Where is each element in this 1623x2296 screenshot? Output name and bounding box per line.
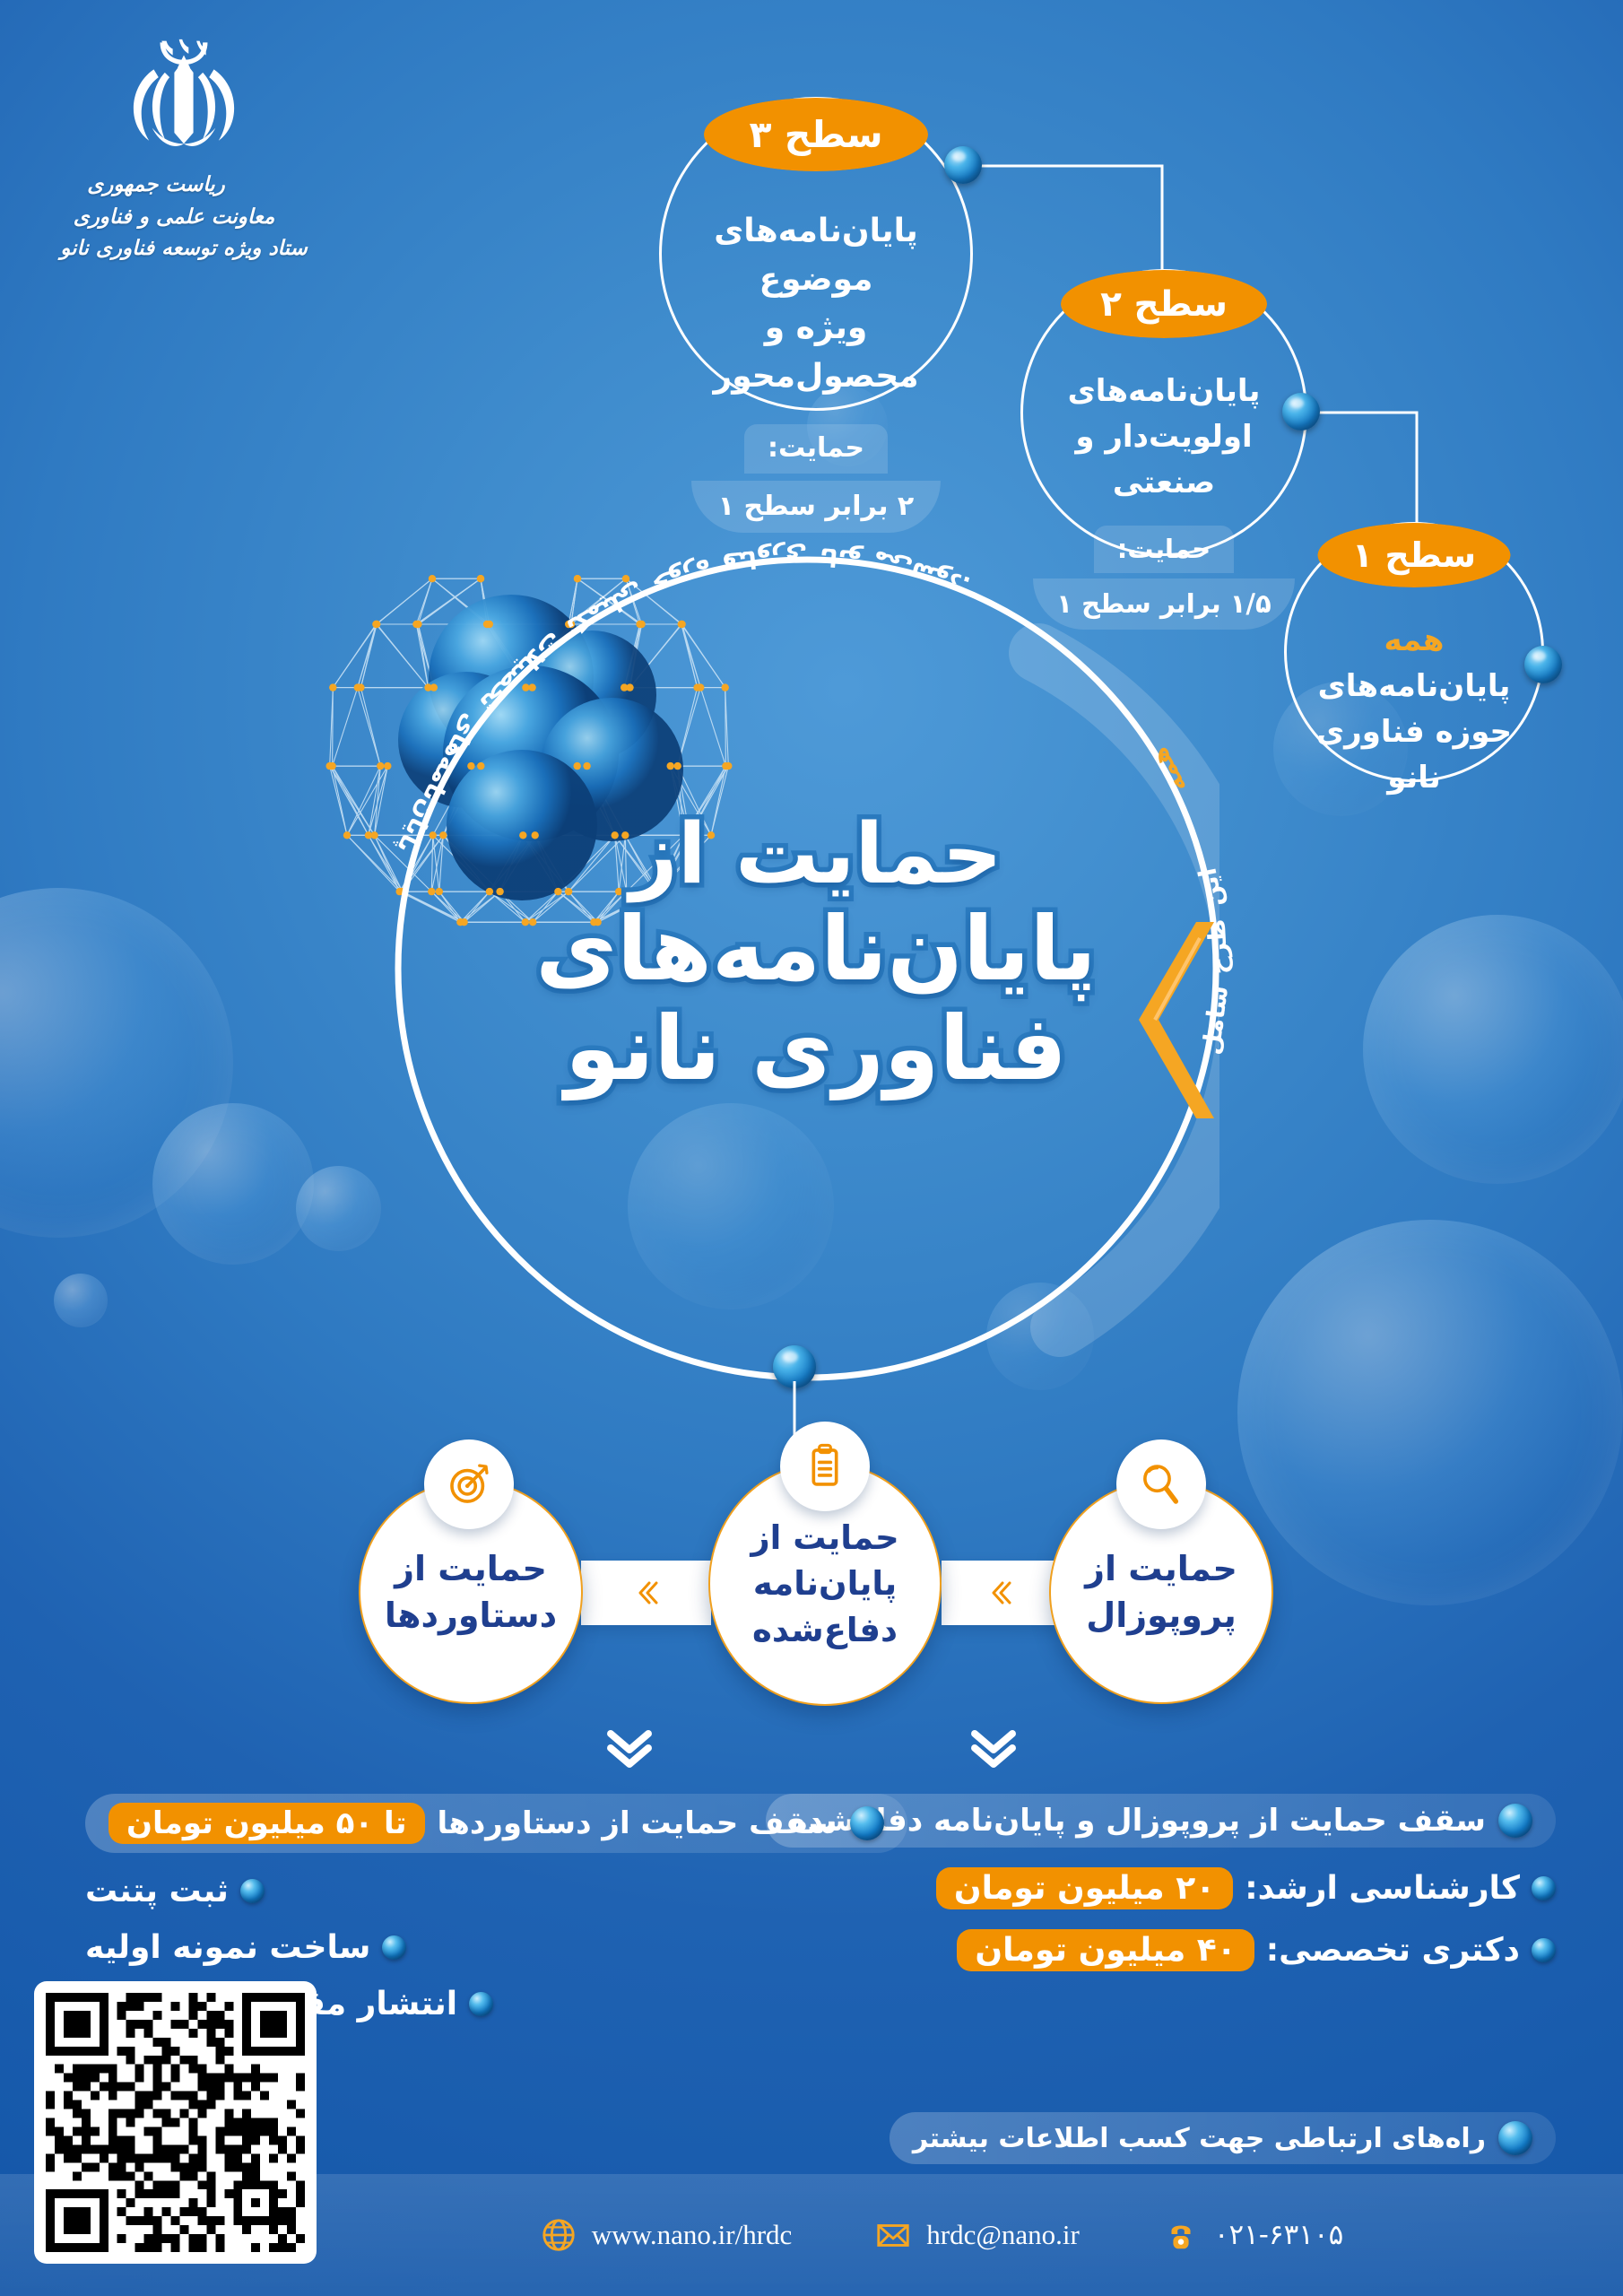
bead-icon: [1532, 1938, 1556, 1962]
level-1-connector-node: [1524, 646, 1562, 683]
level-3-badge: سطح ۳: [704, 98, 928, 171]
decorative-bubble: [296, 1166, 381, 1251]
orange-chevron-marker: [1132, 915, 1217, 1126]
support-achievements-heading: سقف حمایت از دستاوردها تا ۵۰ میلیون توما…: [85, 1794, 907, 1853]
bead-icon: [240, 1879, 265, 1903]
decorative-bubble: [152, 1103, 314, 1265]
level-3-support-label: حمایت:: [744, 424, 888, 474]
achievements-amount: تا ۵۰ میلیون تومان: [108, 1803, 425, 1844]
footer-website[interactable]: www.nano.ir/hrdc: [540, 2216, 793, 2254]
phd-label: دکتری تخصصی:: [1266, 1932, 1520, 1969]
support-row-masters: کارشناسی ارشد: ۲۰ میلیون تومان: [829, 1867, 1556, 1909]
level-2-title-line-2: اولویت‌دار و صنعتی: [1034, 414, 1294, 506]
process-2-line-1: حمایت از: [751, 1515, 898, 1561]
level-3-circle[interactable]: سطح ۳ پایان‌نامه‌های موضوع ویژه و محصول‌…: [659, 97, 973, 411]
level-3-title-line-1: پایان‌نامه‌های موضوع: [681, 207, 950, 304]
level-2-badge: سطح ۲: [1061, 270, 1267, 338]
level-1-badge: سطح ۱: [1318, 523, 1511, 587]
decorative-bubble: [1363, 915, 1623, 1184]
level-3-support-value: ۲ برابر سطح ۱: [691, 481, 941, 534]
bead-icon: [1498, 2121, 1532, 2155]
globe-icon: [540, 2216, 577, 2254]
process-2-line-2: پایان‌نامه: [751, 1561, 898, 1606]
process-1-line-2: پروپوزال: [1085, 1592, 1237, 1639]
masters-label: کارشناسی ارشد:: [1245, 1870, 1520, 1907]
level-2-circle[interactable]: سطح ۲ پایان‌نامه‌های اولویت‌دار و صنعتی …: [1020, 269, 1307, 556]
level-3-connector-node: [944, 146, 982, 184]
process-3-line-1: حمایت از: [385, 1545, 557, 1592]
target-icon-holder: [424, 1439, 514, 1529]
masters-amount: ۲۰ میلیون تومان: [936, 1867, 1233, 1909]
decorative-bubble: [0, 888, 233, 1238]
bead-icon: [382, 1935, 406, 1960]
bead-icon: [850, 1806, 884, 1840]
bead-icon: [1498, 1804, 1532, 1838]
bead-icon: [1532, 1876, 1556, 1900]
achievement-row-patent: ثبت پتنت: [85, 1873, 265, 1909]
telephone-icon: [1162, 2216, 1200, 2254]
level-1-highlight: همه: [1384, 622, 1445, 658]
qr-code[interactable]: [34, 1981, 317, 2264]
double-chevron-down-icon: [598, 1716, 661, 1779]
support-row-phd: دکتری تخصصی: ۴۰ میلیون تومان: [829, 1929, 1556, 1971]
phd-amount: ۴۰ میلیون تومان: [957, 1929, 1254, 1971]
bead-icon: [469, 1992, 493, 2016]
magnifier-icon: [1135, 1458, 1187, 1510]
level-1-circle[interactable]: سطح ۱ همه پایان‌نامه‌های حوزه فناوری نان…: [1284, 522, 1544, 782]
target-icon: [443, 1458, 495, 1510]
level-1-title-line-2: حوزه فناوری نانو: [1296, 709, 1533, 801]
down-arrow-right: [962, 1716, 1025, 1779]
envelope-icon: [874, 2216, 912, 2254]
main-title-line-2: پایان‌نامه‌های: [502, 900, 1130, 1000]
arc-text-word: نانو: [819, 542, 864, 573]
footer-phone[interactable]: ۰۲۱-۶۳۱۰۵: [1162, 2216, 1343, 2254]
process-1-line-1: حمایت از: [1085, 1545, 1237, 1592]
footer-contact-heading: راه‌های ارتباطی جهت کسب اطلاعات بیشتر: [890, 2112, 1556, 2164]
magnifier-icon-holder: [1116, 1439, 1206, 1529]
clipboard-icon-holder: [780, 1422, 870, 1511]
process-link-bar-right: [942, 1561, 1058, 1625]
down-arrow-left: [598, 1716, 661, 1779]
process-link-bar-left: [581, 1561, 711, 1625]
achievement-row-prototype: ساخت نمونه اولیه: [85, 1929, 406, 1966]
main-title-line-3: فناوری نانو: [502, 1000, 1130, 1100]
support-proposal-section: سقف حمایت از پروپوزال و پایان‌نامه دفاع‌…: [829, 1794, 1556, 1971]
level-3-title-line-2: ویژه و محصول‌محور: [681, 304, 950, 401]
double-chevron-left-icon: [985, 1578, 1015, 1608]
level-1-title-line-1: همه پایان‌نامه‌های: [1296, 618, 1533, 709]
decorative-bubble: [1237, 1220, 1623, 1605]
level-2-title-line-1: پایان‌نامه‌های: [1034, 369, 1294, 414]
clipboard-icon: [799, 1440, 851, 1492]
double-chevron-left-icon: [631, 1578, 662, 1608]
footer-email[interactable]: hrdc@nano.ir: [874, 2216, 1080, 2254]
main-title-line-1: حمایت از: [502, 807, 1130, 900]
decorative-bubble: [54, 1274, 108, 1327]
poster-main-title: حمایت از پایان‌نامه‌های فناوری نانو: [502, 807, 1130, 1100]
process-3-line-2: دستاوردها: [385, 1592, 557, 1639]
process-2-line-3: دفاع‌شده: [751, 1607, 898, 1653]
level-2-connector-node: [1282, 393, 1320, 430]
double-chevron-down-icon: [962, 1716, 1025, 1779]
